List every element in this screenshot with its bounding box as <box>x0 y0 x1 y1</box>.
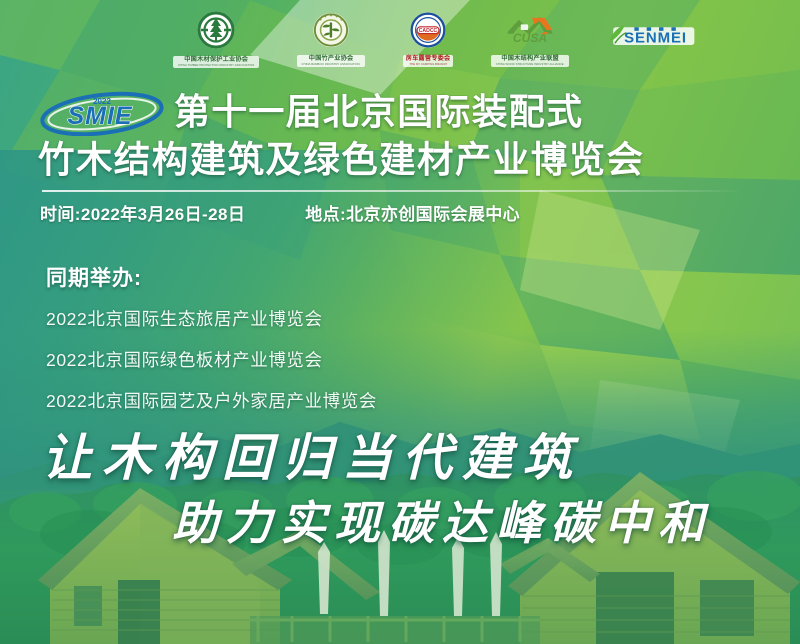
logo-caption: 中国木结构产业联盟 CHINA WOOD STRUCTURE INDUSTRY … <box>491 55 568 66</box>
logo-cadcc-rv-camping-committee[interactable]: CADCC 房车露营专委会 THE RV CAMPING BRANCH <box>403 11 454 66</box>
cadcc-round-seal-icon: CADCC <box>409 11 447 54</box>
bamboo-emblem-icon <box>312 11 350 54</box>
wooden-deck-railing <box>250 616 540 644</box>
header-block: 2022 SMIE 第十一届北京国际装配式 竹木结构建筑及绿色建材产业博览会 时… <box>0 88 800 182</box>
expo-poster: 中国木材保护工业协会 CHINA TIMBER PROTECTION INDUS… <box>0 0 800 644</box>
concurrent-events-heading: 同期举办: <box>46 262 377 292</box>
event-date: 时间:2022年3月26日-28日 <box>40 200 245 225</box>
list-item: 2022北京国际绿色板材产业博览会 <box>46 347 377 372</box>
title-row: 2022 SMIE 第十一届北京国际装配式 <box>0 88 800 136</box>
list-item: 2022北京国际园艺及户外家居产业博览会 <box>46 388 377 413</box>
senmei-leaf-wordmark-icon: SENMEI <box>607 22 697 57</box>
event-meta: 时间:2022年3月26日-28日 地点:北京亦创国际会展中心 <box>40 200 520 225</box>
page-title-line-1: 第十一届北京国际装配式 <box>174 90 583 134</box>
list-item: 2022北京国际生态旅居产业博览会 <box>46 306 377 331</box>
concurrent-events-list: 2022北京国际生态旅居产业博览会 2022北京国际绿色板材产业博览会 2022… <box>46 306 377 413</box>
event-venue: 地点:北京亦创国际会展中心 <box>305 200 520 225</box>
svg-text:CUSA: CUSA <box>513 32 547 46</box>
logo-bamboo-industry-association[interactable]: 中国竹产业协会 CHINA BAMBOO INDUSTRY ASSOCIATIO… <box>297 11 364 66</box>
logo-senmei[interactable]: SENMEI 森美 SENMEI <box>607 22 697 57</box>
logo-caption: 中国木材保护工业协会 CHINA TIMBER PROTECTION INDUS… <box>173 56 259 67</box>
smie-oval-swoosh-logo[interactable]: 2022 SMIE <box>38 90 166 136</box>
page-title-line-2: 竹木结构建筑及绿色建材产业博览会 <box>0 138 800 182</box>
slogan-line-1: 让木构回归当代建筑 <box>42 418 582 490</box>
logo-china-timber-protection-association[interactable]: 中国木材保护工业协会 CHINA TIMBER PROTECTION INDUS… <box>173 10 259 67</box>
pine-tree-emblem-icon <box>196 10 236 55</box>
smie-wordmark-text: SMIE <box>67 102 132 130</box>
concurrent-events-block: 同期举办: 2022北京国际生态旅居产业博览会 2022北京国际绿色板材产业博览… <box>46 262 377 429</box>
house-roof-cusa-icon: CUSA <box>504 11 556 54</box>
title-divider <box>42 190 742 192</box>
partner-logo-strip: 中国木材保护工业协会 CHINA TIMBER PROTECTION INDUS… <box>0 0 800 78</box>
svg-text:CADCC: CADCC <box>419 28 438 34</box>
svg-text:SENMEI: SENMEI <box>624 29 687 46</box>
logo-caption: 房车露营专委会 THE RV CAMPING BRANCH <box>403 55 454 66</box>
logo-caption: 中国竹产业协会 CHINA BAMBOO INDUSTRY ASSOCIATIO… <box>297 55 364 66</box>
logo-cusa-wood-structure-alliance[interactable]: CUSA 中国木结构产业联盟 CHINA WOOD STRUCTURE INDU… <box>491 11 568 66</box>
slogan-line-2: 助力实现碳达峰碳中和 <box>172 487 712 553</box>
